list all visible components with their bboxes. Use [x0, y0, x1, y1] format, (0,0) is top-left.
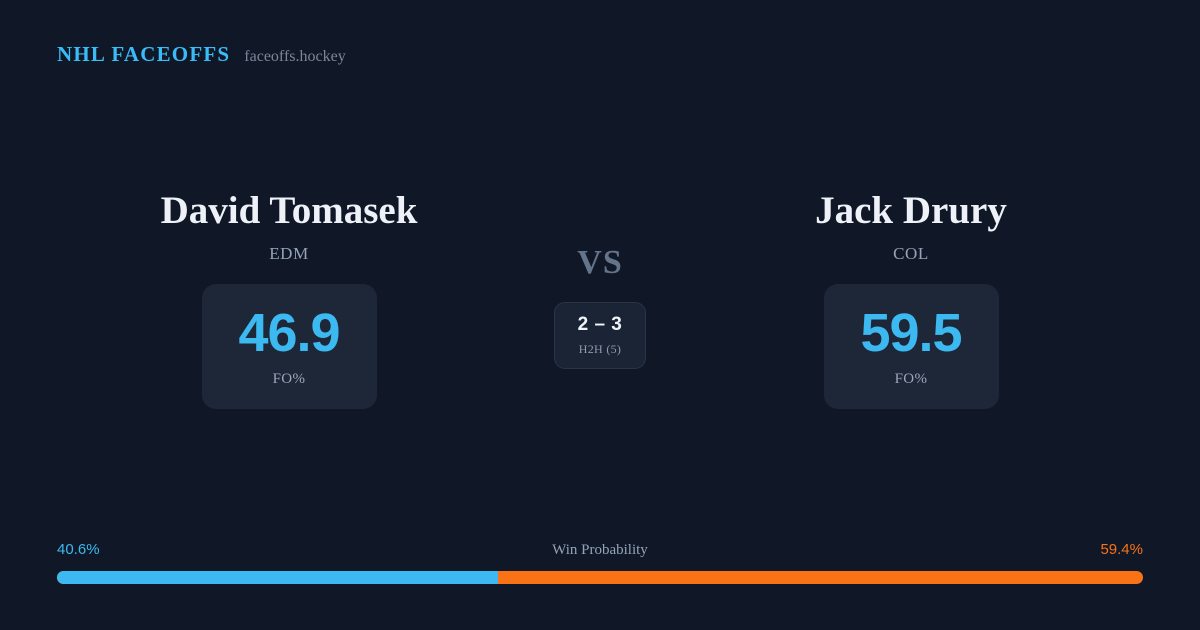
versus-block: VS 2 – 3 H2H (5)	[500, 190, 700, 369]
head-to-head-label: H2H (5)	[579, 342, 621, 357]
win-probability-bar-left-fill	[57, 571, 498, 584]
head-to-head-card: 2 – 3 H2H (5)	[554, 302, 646, 369]
brand-title[interactable]: NHL FACEOFFS	[57, 44, 230, 65]
faceoff-pct-label-right: FO%	[895, 371, 928, 388]
win-probability-section: 40.6% Win Probability 59.4%	[57, 540, 1143, 584]
player-name-right: Jack Drury	[815, 190, 1007, 231]
brand-domain: faceoffs.hockey	[244, 49, 345, 65]
player-team-right: COL	[893, 244, 929, 264]
head-to-head-score: 2 – 3	[578, 315, 623, 334]
win-probability-title: Win Probability	[57, 540, 1143, 560]
player-card-right[interactable]: Jack Drury COL 59.5 FO%	[701, 190, 1121, 409]
player-name-left: David Tomasek	[161, 190, 418, 231]
versus-label: VS	[577, 246, 622, 280]
matchup-section: David Tomasek EDM 46.9 FO% VS 2 – 3 H2H …	[0, 190, 1200, 430]
win-probability-labels: 40.6% Win Probability 59.4%	[57, 540, 1143, 560]
faceoff-stat-card-left: 46.9 FO%	[202, 284, 377, 409]
brand-header: NHL FACEOFFS faceoffs.hockey	[57, 44, 346, 65]
player-team-left: EDM	[269, 244, 309, 264]
faceoff-pct-label-left: FO%	[273, 371, 306, 388]
faceoff-pct-value-left: 46.9	[238, 306, 339, 360]
faceoff-stat-card-right: 59.5 FO%	[824, 284, 999, 409]
faceoff-pct-value-right: 59.5	[860, 306, 961, 360]
win-probability-right-value: 59.4%	[1100, 540, 1143, 560]
win-probability-bar	[57, 571, 1143, 584]
player-card-left[interactable]: David Tomasek EDM 46.9 FO%	[79, 190, 499, 409]
